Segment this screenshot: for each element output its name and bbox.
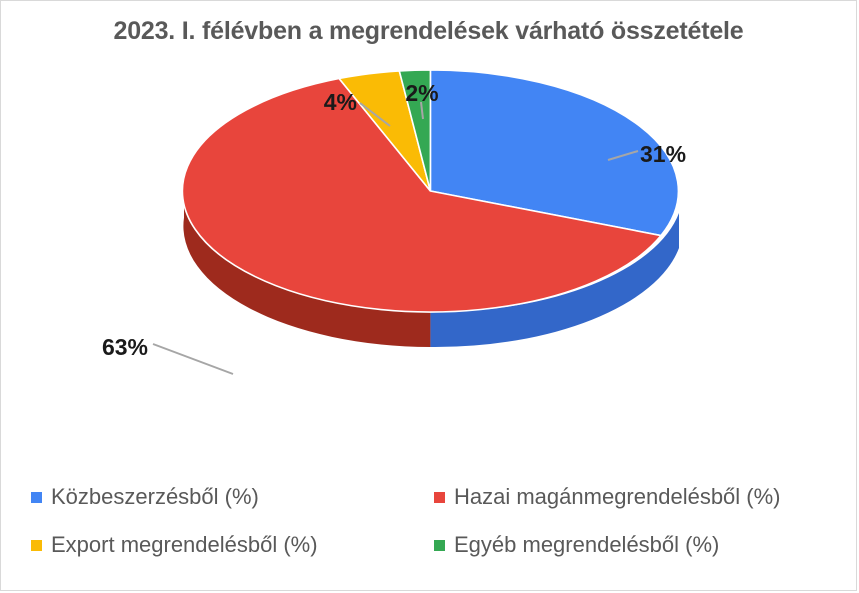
legend-label-kozbeszerzes: Közbeszerzésből (%)	[51, 486, 259, 508]
chart-legend: Közbeszerzésből (%) Hazai magánmegrendel…	[1, 473, 856, 578]
legend-item-hazai-magan[interactable]: Hazai magánmegrendelésből (%)	[421, 473, 841, 521]
legend-swatch-icon	[434, 540, 445, 551]
legend-item-export[interactable]: Export megrendelésből (%)	[1, 521, 421, 569]
chart-title: 2023. I. félévben a megrendelések várhat…	[1, 17, 856, 46]
legend-swatch-icon	[434, 492, 445, 503]
data-label-kozbeszerzes: 31%	[640, 141, 686, 167]
legend-item-kozbeszerzes[interactable]: Közbeszerzésből (%)	[1, 473, 421, 521]
legend-swatch-icon	[31, 540, 42, 551]
pie-plot-area: 31% 63% 4% 2%	[1, 59, 856, 459]
data-label-hazai-magan: 63%	[102, 334, 148, 360]
legend-label-hazai-magan: Hazai magánmegrendelésből (%)	[454, 486, 781, 508]
legend-label-export: Export megrendelésből (%)	[51, 534, 318, 556]
legend-label-egyeb: Egyéb megrendelésből (%)	[454, 534, 719, 556]
chart-container: 2023. I. félévben a megrendelések várhat…	[0, 0, 857, 591]
legend-swatch-icon	[31, 492, 42, 503]
data-label-export: 4%	[324, 89, 357, 115]
legend-item-egyeb[interactable]: Egyéb megrendelésből (%)	[421, 521, 841, 569]
legend-row-1: Közbeszerzésből (%) Hazai magánmegrendel…	[1, 473, 856, 521]
pie-chart-svg: 31% 63% 4% 2%	[1, 59, 856, 459]
leader-line-63	[153, 344, 233, 374]
legend-row-2: Export megrendelésből (%) Egyéb megrende…	[1, 521, 856, 569]
data-label-egyeb: 2%	[405, 80, 438, 106]
